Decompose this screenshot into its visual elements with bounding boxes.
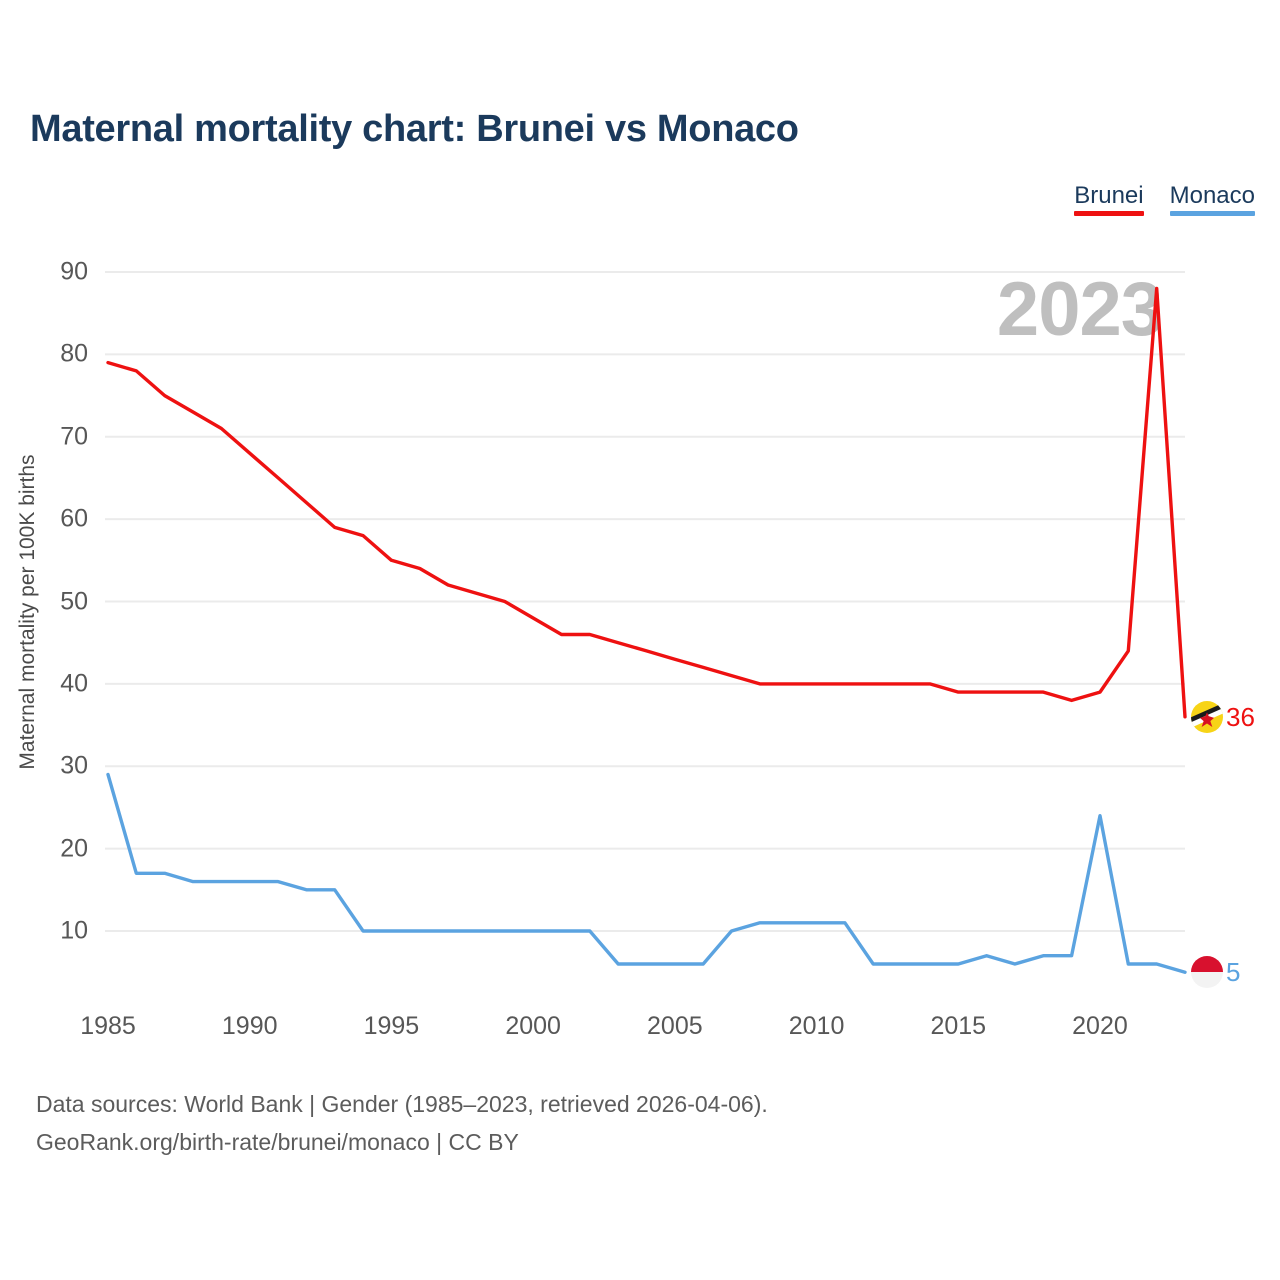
y-axis-title: Maternal mortality per 100K births	[16, 352, 40, 872]
chart-page: Maternal mortality chart: Brunei vs Mona…	[0, 0, 1280, 1280]
x-tick-label: 1985	[80, 1012, 136, 1041]
footer-line-credit: GeoRank.org/birth-rate/brunei/monaco | C…	[36, 1124, 768, 1162]
x-tick-label: 1990	[222, 1012, 278, 1041]
endpoint-marker-brunei[interactable]: 36	[1191, 701, 1255, 733]
x-tick-label: 2005	[647, 1012, 703, 1041]
x-tick-label: 1995	[364, 1012, 420, 1041]
footer-line-sources: Data sources: World Bank | Gender (1985–…	[36, 1086, 768, 1124]
x-tick-label: 2015	[930, 1012, 986, 1041]
x-tick-label: 2000	[505, 1012, 561, 1041]
endpoint-value-monaco: 5	[1226, 959, 1240, 985]
x-tick-label: 2010	[789, 1012, 845, 1041]
footer-attribution: Data sources: World Bank | Gender (1985–…	[36, 1086, 768, 1162]
brunei-flag-icon	[1191, 701, 1223, 733]
monaco-flag-icon	[1191, 956, 1223, 988]
x-tick-label: 2020	[1072, 1012, 1128, 1041]
endpoint-marker-monaco[interactable]: 5	[1191, 956, 1240, 988]
endpoint-value-brunei: 36	[1226, 704, 1255, 730]
